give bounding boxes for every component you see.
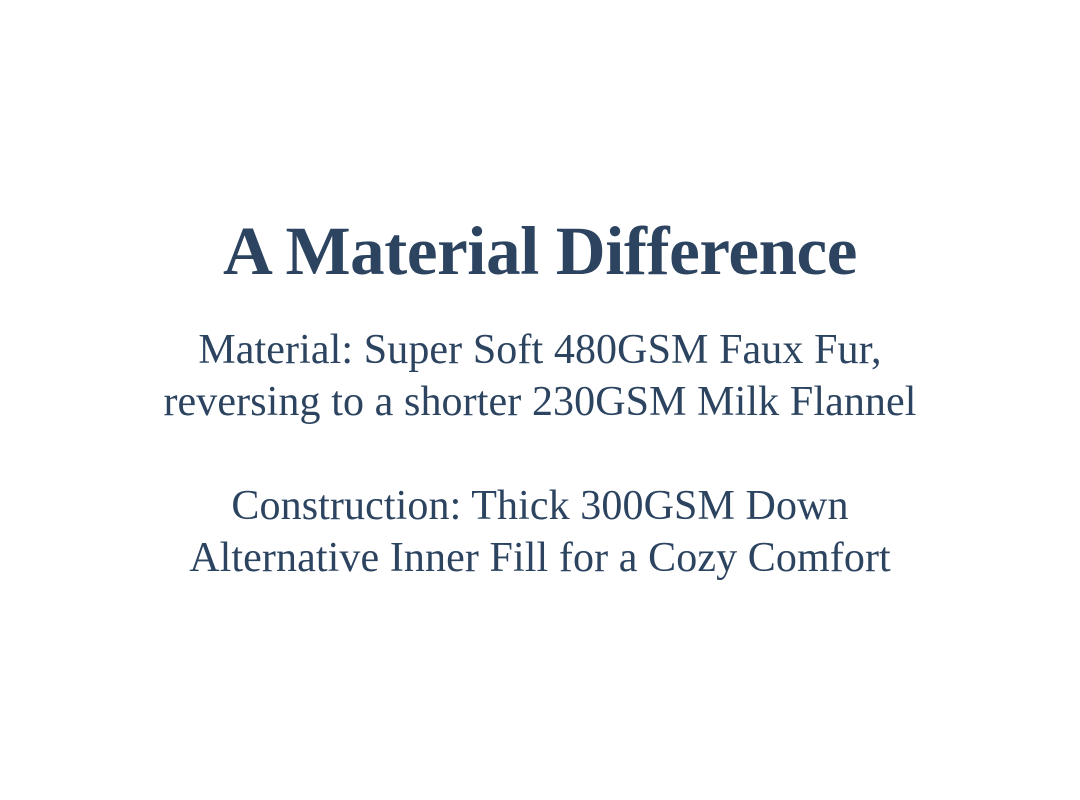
paragraph-material-line-1: Material: Super Soft 480GSM Faux Fur, bbox=[30, 324, 1050, 376]
paragraph-spacer bbox=[30, 428, 1050, 480]
body-copy: Material: Super Soft 480GSM Faux Fur, re… bbox=[30, 290, 1050, 584]
paragraph-construction-line-1: Construction: Thick 300GSM Down bbox=[30, 480, 1050, 532]
page-title: A Material Difference bbox=[30, 0, 1050, 290]
paragraph-construction: Construction: Thick 300GSM Down Alternat… bbox=[30, 480, 1050, 584]
slide-canvas: A Material Difference Material: Super So… bbox=[0, 0, 1080, 800]
paragraph-material: Material: Super Soft 480GSM Faux Fur, re… bbox=[30, 324, 1050, 428]
slide-content: A Material Difference Material: Super So… bbox=[30, 0, 1050, 584]
paragraph-construction-line-2: Alternative Inner Fill for a Cozy Comfor… bbox=[30, 532, 1050, 584]
paragraph-material-line-2: reversing to a shorter 230GSM Milk Flann… bbox=[30, 376, 1050, 428]
